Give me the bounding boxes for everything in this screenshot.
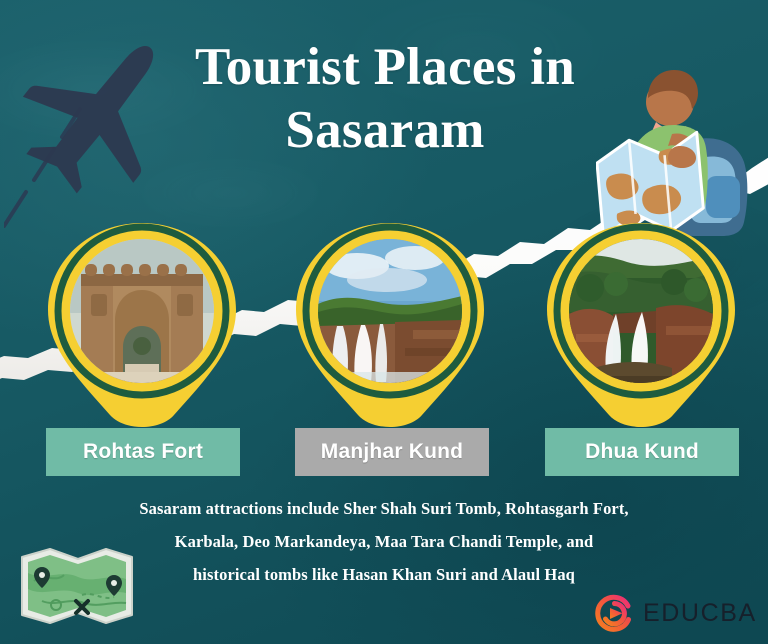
caption-dhua-kund[interactable]: Dhua Kund — [545, 428, 739, 476]
page-title: Tourist Places in Sasaram — [118, 36, 652, 161]
educba-e-logo-icon — [595, 594, 633, 632]
description-line-3: historical tombs like Hasan Khan Suri an… — [62, 558, 706, 591]
caption-manjhar-kund[interactable]: Manjhar Kund — [295, 428, 489, 476]
rohtas-fort-gateway-photo — [70, 239, 214, 384]
place-pin-manjhar-kund[interactable] — [295, 222, 485, 440]
page-title-line-2: Sasaram — [118, 99, 652, 162]
educba-logo[interactable]: EDUCBA — [595, 592, 755, 634]
place-pin-rohtas-fort[interactable] — [47, 222, 237, 440]
description-text: Sasaram attractions include Sher Shah Su… — [62, 492, 706, 591]
description-line-1: Sasaram attractions include Sher Shah Su… — [62, 492, 706, 525]
description-line-2: Karbala, Deo Markandeya, Maa Tara Chandi… — [62, 525, 706, 558]
caption-rohtas-fort[interactable]: Rohtas Fort — [46, 428, 240, 476]
page-title-line-1: Tourist Places in — [118, 36, 652, 99]
place-captions-row: Rohtas Fort Manjhar Kund Dhua Kund — [0, 428, 768, 478]
poster-canvas: Tourist Places in Sasaram — [0, 0, 768, 644]
place-pins-row — [0, 222, 768, 442]
place-pin-dhua-kund[interactable] — [546, 222, 736, 440]
educba-wordmark: EDUCBA — [643, 599, 757, 628]
